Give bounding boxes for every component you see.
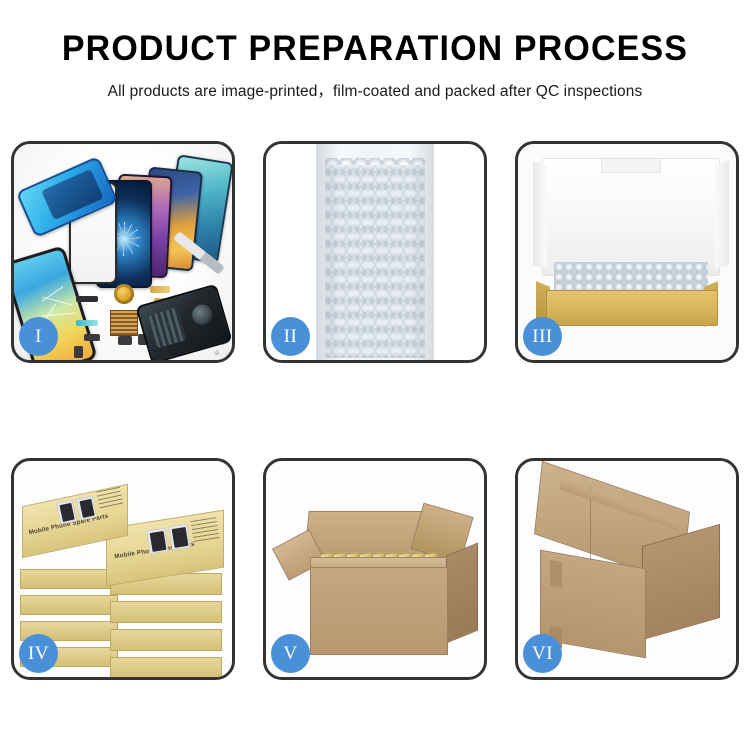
box-lid-fold-left <box>533 161 547 268</box>
carton-front-face <box>310 567 448 655</box>
process-panel-grid: I II III <box>11 141 739 680</box>
process-step-panel-4: Mobile Phone Spare Parts Mobile Phone Sp… <box>11 458 235 680</box>
process-step-panel-6: VI <box>515 458 739 680</box>
part-chip-grid <box>110 310 138 336</box>
box-lid-tab <box>601 159 661 173</box>
part-small-module <box>118 336 132 345</box>
stacked-box-edge <box>110 629 222 651</box>
carton-side-face <box>446 543 478 644</box>
part-small-module <box>84 334 100 341</box>
box-tray-front <box>546 290 718 326</box>
part-small-module <box>74 346 83 358</box>
part-teal-cable <box>76 320 98 326</box>
box-lid <box>542 158 720 276</box>
process-step-panel-1: I <box>11 141 235 363</box>
process-step-panel-2: II <box>263 141 487 363</box>
step-badge-1: I <box>19 317 58 356</box>
stacked-box-edge <box>110 657 222 677</box>
bubble-wrap-shading <box>316 144 434 360</box>
box-label-spec-lines <box>190 517 219 543</box>
part-flex-cable <box>150 286 170 293</box>
packing-tape-front-upper <box>550 560 562 588</box>
box-lid-fold-right <box>715 161 729 268</box>
page-title: PRODUCT PREPARATION PROCESS <box>11 31 739 66</box>
box-label-phone-image <box>146 528 169 555</box>
part-flex-strip <box>76 296 98 302</box>
step-badge-3: III <box>523 317 562 356</box>
stacked-box-edge <box>20 595 118 615</box>
page-header: PRODUCT PREPARATION PROCESS All products… <box>0 0 750 101</box>
process-step-panel-3: III <box>515 141 739 363</box>
part-screw <box>214 350 219 355</box>
stacked-box-edge <box>20 569 118 589</box>
step-badge-5: V <box>271 634 310 673</box>
step-badge-2: II <box>271 317 310 356</box>
step-badge-4: IV <box>19 634 58 673</box>
box-label-phone-image <box>168 524 191 551</box>
process-step-panel-5: V <box>263 458 487 680</box>
stacked-box-edge <box>110 601 222 623</box>
step-badge-6: VI <box>523 634 562 673</box>
part-screw <box>226 352 231 357</box>
page-subtitle: All products are image-printed，film-coat… <box>0 79 750 101</box>
part-wireless-coil <box>114 284 134 304</box>
